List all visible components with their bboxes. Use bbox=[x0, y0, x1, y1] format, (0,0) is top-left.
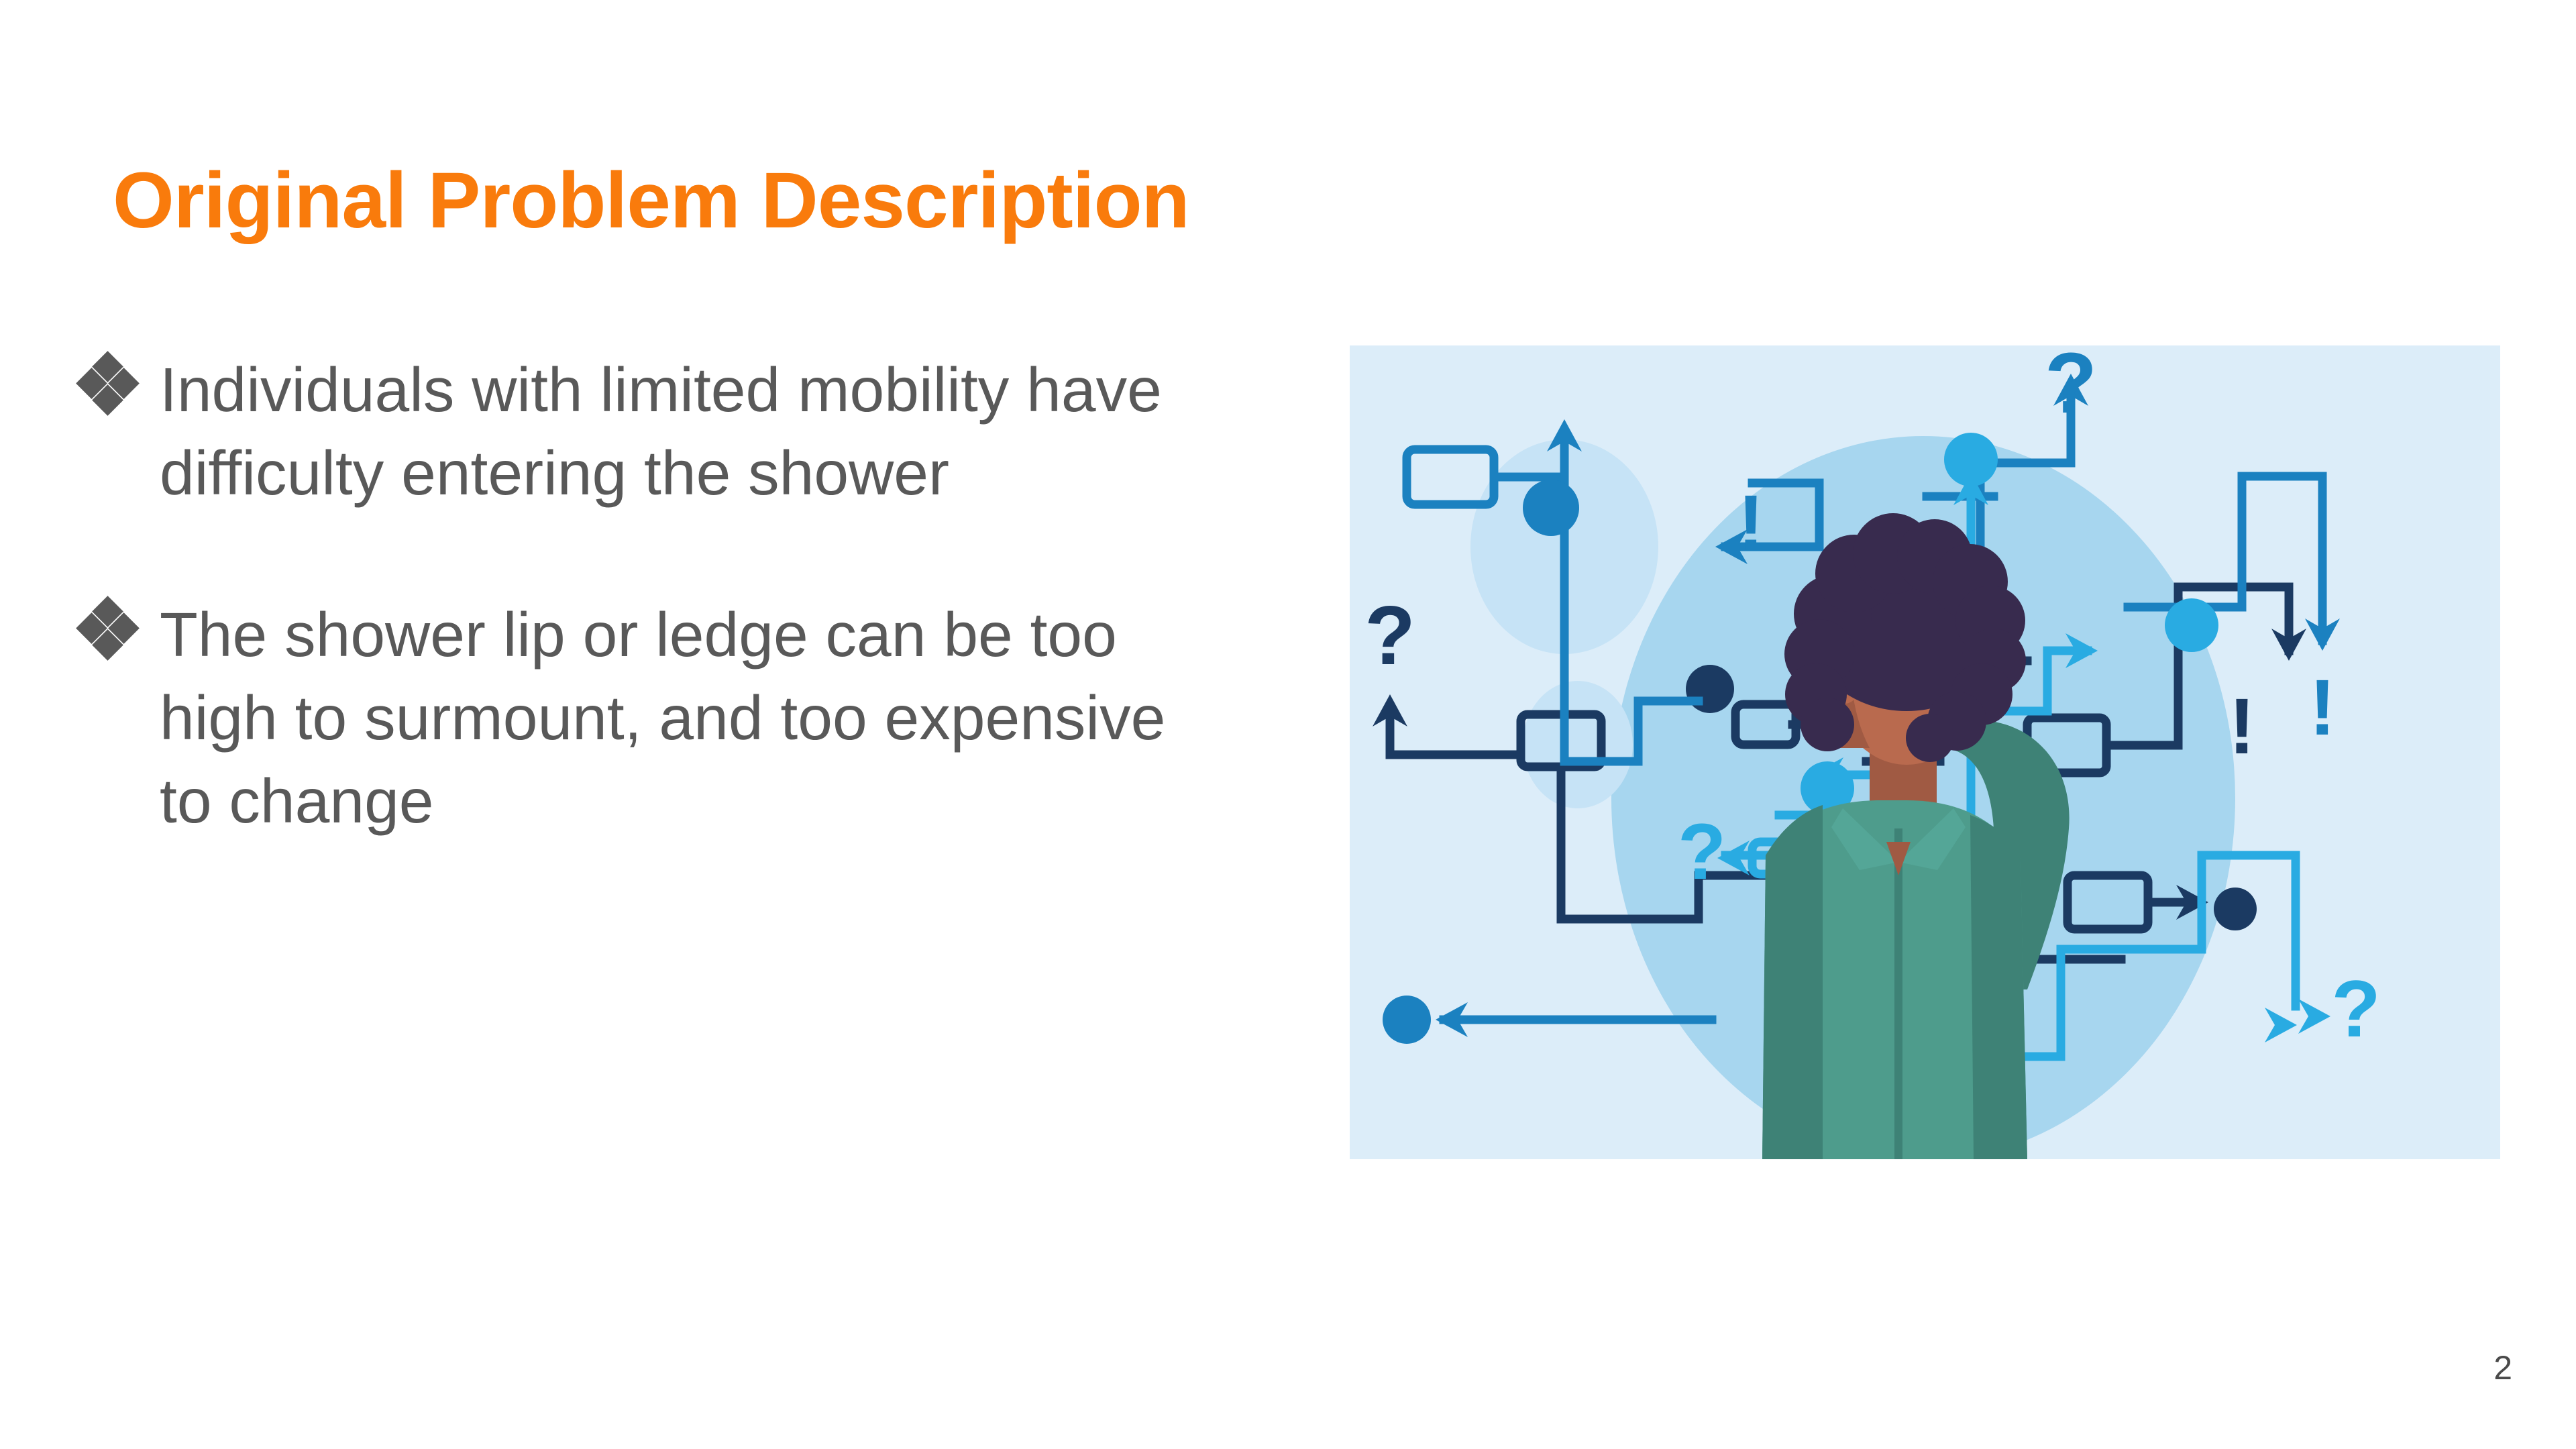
person-figure bbox=[1762, 513, 2070, 1159]
navy-dot-right bbox=[2214, 888, 2257, 930]
lightblue-dot-right bbox=[2165, 598, 2218, 652]
question-mark-lightblue-right: ? bbox=[2331, 964, 2380, 1054]
lightblue-dot-top bbox=[1944, 433, 1998, 486]
question-mark-lightblue-left: ? bbox=[1678, 808, 1726, 896]
list-item: Individuals with limited mobility have d… bbox=[80, 349, 1234, 515]
navy-dot-left bbox=[1686, 665, 1734, 713]
svg-text:?: ? bbox=[2045, 345, 2097, 431]
list-item: The shower lip or ledge can be too high … bbox=[80, 594, 1234, 843]
question-mark-navy: ? bbox=[1364, 590, 1415, 682]
bullet-text: The shower lip or ledge can be too high … bbox=[160, 594, 1179, 843]
diamond-cluster-bullet-icon bbox=[80, 358, 160, 416]
bullet-list: Individuals with limited mobility have d… bbox=[80, 349, 1234, 922]
svg-text:?: ? bbox=[1364, 590, 1415, 682]
person-shirt-shadow-left bbox=[1762, 805, 1823, 1159]
person-shirt-placket bbox=[1894, 828, 1902, 1159]
person-shirt-shadow-right bbox=[1970, 815, 2027, 1159]
pale-circle-lower bbox=[1523, 681, 1633, 808]
svg-text:?: ? bbox=[2331, 964, 2380, 1054]
midblue-dot-top bbox=[1523, 480, 1579, 536]
slide: Original Problem Description Individuals… bbox=[0, 0, 2576, 1449]
illustration-confused-person: ? ! bbox=[1350, 345, 2500, 1159]
diamond-cluster-bullet-icon bbox=[80, 603, 160, 661]
svg-text:!: ! bbox=[1737, 479, 1764, 568]
page-number: 2 bbox=[2493, 1348, 2512, 1387]
exclamation-mark-navy: ! bbox=[2229, 682, 2255, 771]
svg-text:?: ? bbox=[1678, 808, 1726, 896]
midblue-dot-bottomleft bbox=[1383, 996, 1431, 1044]
svg-text:!: ! bbox=[2229, 682, 2255, 771]
exclamation-mark-midblue-right: ! bbox=[2309, 663, 2335, 752]
svg-text:!: ! bbox=[2309, 663, 2335, 752]
exclamation-mark-midblue: ! bbox=[1737, 479, 1764, 568]
bullet-text: Individuals with limited mobility have d… bbox=[160, 349, 1179, 515]
page-title: Original Problem Description bbox=[113, 160, 1189, 243]
illustration-svg: ? ! bbox=[1350, 345, 2500, 1159]
question-mark-midblue: ? bbox=[2045, 345, 2097, 431]
